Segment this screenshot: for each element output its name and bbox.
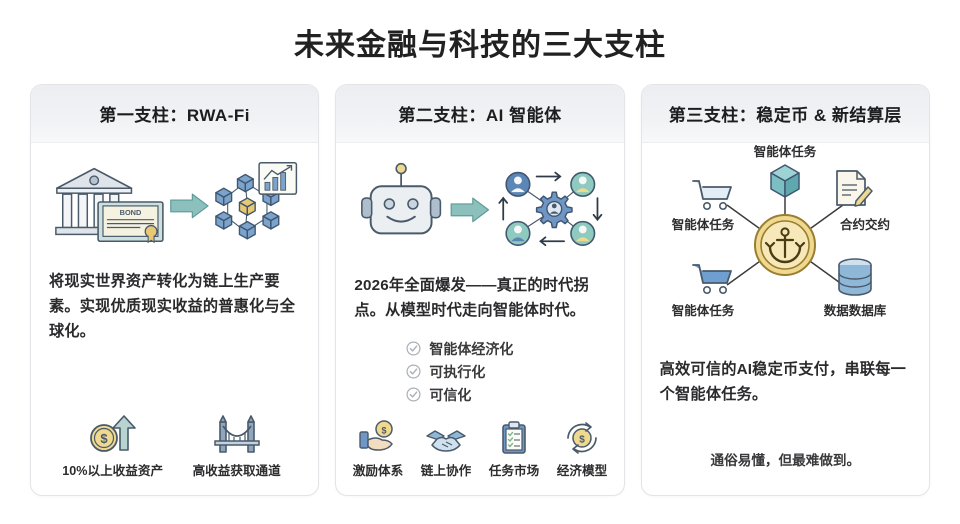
hand-coin-icon: $ bbox=[356, 420, 400, 456]
avatar-icon bbox=[571, 222, 595, 246]
footer-note-stablecoin: 通俗易懂，但最难做到。 bbox=[642, 449, 929, 469]
checklist-item: 可信化 bbox=[406, 383, 605, 406]
svg-text:$: $ bbox=[381, 426, 386, 436]
footer-item-yield-asset: $ 10%以上收益资产 bbox=[51, 412, 175, 479]
card-body-ai-agent: 2026年全面爆发——真正的时代拐点。从模型时代走向智能体时代。 智能体经济化 bbox=[336, 143, 623, 495]
node-label-top: 智能体任务 bbox=[753, 144, 817, 159]
cart-icon bbox=[693, 265, 731, 293]
node-cube: 智能体任务 bbox=[753, 144, 817, 197]
footer-icons-ai-agent: $ 激励体系 bbox=[336, 420, 623, 479]
cube-icon bbox=[771, 165, 799, 197]
footer-label: 10%以上收益资产 bbox=[62, 460, 163, 479]
robot-head-icon bbox=[362, 164, 441, 234]
document-pen-icon bbox=[837, 171, 872, 206]
checklist-ai-agent: 智能体经济化 可执行化 可信化 bbox=[354, 337, 605, 406]
card-paragraph-ai-agent: 2026年全面爆发——真正的时代拐点。从模型时代走向智能体时代。 bbox=[354, 273, 605, 323]
card-paragraph-stablecoin: 高效可信的AI稳定币支付，串联每一个智能体任务。 bbox=[660, 357, 911, 407]
node-contract: 合约交约 bbox=[837, 171, 890, 232]
card-body-rwa-fi: BOND bbox=[31, 143, 318, 495]
cart-icon bbox=[693, 181, 731, 209]
node-cart-left-bottom: 智能体任务 bbox=[671, 265, 735, 318]
bond-certificate-icon: BOND bbox=[98, 202, 163, 242]
bridge-icon bbox=[209, 412, 265, 456]
arrow-right-icon bbox=[452, 198, 489, 222]
checklist-label: 可信化 bbox=[429, 385, 471, 405]
node-cart-left-top: 智能体任务 bbox=[671, 181, 735, 232]
card-stablecoin: 第三支柱：稳定币 & 新结算层 bbox=[641, 84, 930, 496]
avatar-icon bbox=[571, 173, 595, 197]
footer-label: 经济模型 bbox=[557, 460, 607, 479]
handshake-icon bbox=[424, 420, 468, 456]
footer-label: 激励体系 bbox=[353, 460, 403, 479]
node-label-right-bottom: 数据数据库 bbox=[823, 303, 887, 318]
card-header-ai-agent: 第二支柱：AI 智能体 bbox=[336, 85, 623, 143]
node-label-left-top: 智能体任务 bbox=[671, 217, 735, 232]
arrow-right-icon bbox=[171, 194, 208, 218]
footer-label: 高收益获取通道 bbox=[193, 460, 281, 479]
node-database: 数据数据库 bbox=[823, 259, 887, 318]
svg-text:$: $ bbox=[100, 431, 108, 446]
bank-to-blockchain-illustration: BOND bbox=[49, 143, 300, 261]
page-title: 未来金融与科技的三大支柱 bbox=[0, 20, 960, 64]
card-header-rwa-fi: 第一支柱：RWA-Fi bbox=[31, 85, 318, 143]
footer-item-collab: 链上协作 bbox=[412, 420, 480, 479]
chart-icon bbox=[259, 163, 296, 194]
footer-item-incentive: $ 激励体系 bbox=[344, 420, 412, 479]
footer-item-yield-channel: 高收益获取通道 bbox=[175, 412, 299, 479]
checklist-label: 智能体经济化 bbox=[429, 339, 513, 359]
card-paragraph-rwa-fi: 将现实世界资产转化为链上生产要素。实现优质现实收益的普惠化与全球化。 bbox=[49, 269, 300, 344]
database-icon bbox=[839, 259, 871, 295]
pillar-cards-container: 第一支柱：RWA-Fi bbox=[30, 84, 930, 496]
checklist-label: 可执行化 bbox=[429, 362, 485, 382]
node-label-right-top: 合约交约 bbox=[840, 217, 890, 232]
footer-label: 任务市场 bbox=[489, 460, 539, 479]
gear-icon bbox=[537, 192, 572, 227]
check-circle-icon bbox=[406, 387, 421, 402]
coin-cycle-icon: $ bbox=[560, 420, 604, 456]
clipboard-icon bbox=[492, 420, 536, 456]
avatar-icon bbox=[506, 173, 530, 197]
check-circle-icon bbox=[406, 364, 421, 379]
card-ai-agent: 第二支柱：AI 智能体 bbox=[335, 84, 624, 496]
footer-item-econ-model: $ 经济模型 bbox=[548, 420, 616, 479]
footer-icons-rwa-fi: $ 10%以上收益资产 bbox=[31, 412, 318, 479]
card-rwa-fi: 第一支柱：RWA-Fi bbox=[30, 84, 319, 496]
svg-text:BOND: BOND bbox=[120, 208, 142, 217]
anchor-coin-icon bbox=[755, 215, 815, 275]
coin-growth-icon: $ bbox=[86, 412, 140, 456]
checklist-item: 可执行化 bbox=[406, 360, 605, 383]
robot-to-agent-network-illustration bbox=[354, 143, 605, 261]
svg-text:$: $ bbox=[579, 435, 585, 446]
stablecoin-hub-diagram: 智能体任务 智能体任务 bbox=[660, 143, 911, 329]
avatar-icon bbox=[506, 222, 530, 246]
check-circle-icon bbox=[406, 341, 421, 356]
card-header-stablecoin: 第三支柱：稳定币 & 新结算层 bbox=[642, 85, 929, 143]
card-body-stablecoin: 智能体任务 智能体任务 bbox=[642, 143, 929, 495]
footer-label: 链上协作 bbox=[421, 460, 471, 479]
node-label-left-bottom: 智能体任务 bbox=[671, 303, 735, 318]
infographic-page: 未来金融与科技的三大支柱 第一支柱：RWA-Fi bbox=[0, 0, 960, 524]
checklist-item: 智能体经济化 bbox=[406, 337, 605, 360]
agent-network-icon bbox=[500, 173, 602, 246]
footer-item-task-market: 任务市场 bbox=[480, 420, 548, 479]
